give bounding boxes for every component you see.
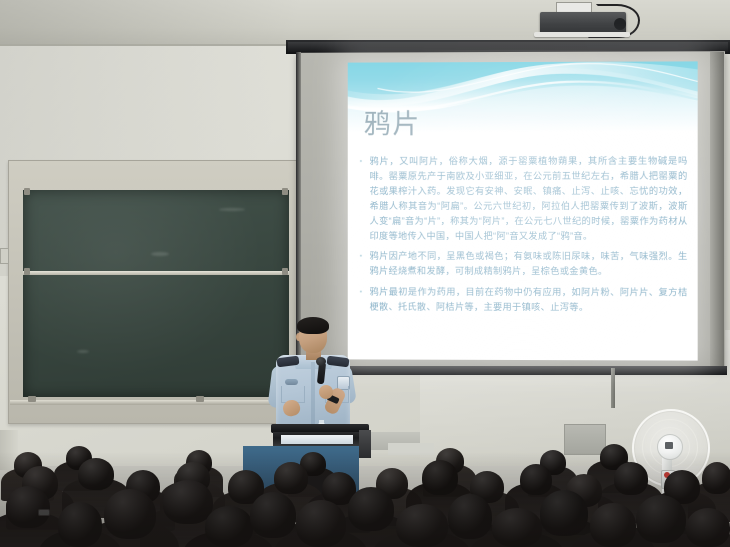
audience-head xyxy=(702,462,730,494)
slide-title: 鸦片 xyxy=(364,110,422,138)
speaker-chest-patch xyxy=(285,379,298,385)
slide-bullet-item: ▪ 鸦片最初是作为药用，目前在药物中仍有应用，如阿片粉、阿片片、复方桔梗散、托氏… xyxy=(360,285,688,315)
bullet-marker-icon: ▪ xyxy=(360,158,370,243)
audience-head xyxy=(274,462,308,494)
powerpoint-slide: 鸦片 ▪ 鸦片，又叫阿片，俗称大烟，源于罂粟植物蒴果，其所含主要生物碱是吗啡。罂… xyxy=(348,61,698,360)
slide-bullet-text: 鸦片最初是作为药用，目前在药物中仍有应用，如阿片粉、阿片片、复方桔梗散、托氏散、… xyxy=(370,285,688,315)
audience-head xyxy=(686,508,730,547)
audience-head xyxy=(250,492,296,538)
wall-switch-plate[interactable] xyxy=(0,248,9,264)
audience-head xyxy=(163,480,213,524)
board-clip xyxy=(282,268,288,275)
blackboard-divider-rail xyxy=(23,271,289,275)
board-clip xyxy=(24,268,30,275)
blackboard-surface xyxy=(23,190,289,397)
projected-slide-image: 鸦片 ▪ 鸦片，又叫阿片，俗称大烟，源于罂粟植物蒴果，其所含主要生物碱是吗啡。罂… xyxy=(348,61,698,360)
audience-head xyxy=(348,487,394,531)
chalk-tray-clip xyxy=(28,396,36,402)
wall-mounted-box xyxy=(564,424,606,455)
audience-head xyxy=(448,494,492,539)
glasses-icon xyxy=(38,509,50,516)
screen-support-arm xyxy=(611,368,615,408)
bullet-marker-icon: ▪ xyxy=(360,289,370,315)
microphone-head xyxy=(316,357,326,366)
slide-bullet-item: ▪ 鸦片，又叫阿片，俗称大烟，源于罂粟植物蒴果，其所含主要生物碱是吗啡。罂粟原先… xyxy=(360,154,688,244)
chalk-tray-clip xyxy=(196,396,204,402)
audience-head xyxy=(296,500,346,547)
slide-body: ▪ 鸦片，又叫阿片，俗称大烟，源于罂粟植物蒴果，其所含主要生物碱是吗啡。罂粟原先… xyxy=(360,154,688,322)
audience-head xyxy=(614,462,648,495)
audience-head xyxy=(78,458,114,490)
audience-head xyxy=(590,503,636,547)
classroom-photo-scene: 鸦片 ▪ 鸦片，又叫阿片，俗称大烟，源于罂粟植物蒴果，其所含主要生物碱是吗啡。罂… xyxy=(0,0,730,547)
speaker-shirt-placket xyxy=(311,362,315,428)
audience-head xyxy=(396,504,448,547)
screen-right-edge xyxy=(710,52,724,368)
audience-head xyxy=(520,464,552,495)
audience-head xyxy=(104,489,156,539)
audience-head xyxy=(6,486,50,528)
slide-bullet-text: 鸦片因产地不同，呈黑色或褐色；有氨味或陈旧尿味，味苦，气味强烈。生鸦片经烧煮和发… xyxy=(370,249,688,279)
audience-head xyxy=(636,495,686,543)
chalk-smudge xyxy=(77,350,89,353)
audience-head xyxy=(540,490,588,536)
bullet-marker-icon: ▪ xyxy=(360,253,370,279)
speaker-hair xyxy=(297,317,329,334)
blackboard xyxy=(8,160,302,424)
chalk-smudge xyxy=(151,252,169,256)
audience-head xyxy=(492,508,542,547)
audience-head xyxy=(58,502,102,547)
audience-head xyxy=(422,460,458,495)
audience-head xyxy=(205,506,253,547)
chalk-tray xyxy=(10,400,296,405)
board-clip xyxy=(282,188,288,195)
projector-lens xyxy=(614,18,626,30)
lectern-side-panel xyxy=(359,430,371,458)
lecture-notes[interactable] xyxy=(281,435,353,444)
slide-bullet-item: ▪ 鸦片因产地不同，呈黑色或褐色；有氨味或陈旧尿味，味苦，气味强烈。生鸦片经烧煮… xyxy=(360,249,688,279)
screen-weight-bar xyxy=(293,366,727,375)
chalk-smudge xyxy=(219,208,245,211)
fan-logo xyxy=(665,442,673,449)
slide-bullet-text: 鸦片，又叫阿片，俗称大烟，源于罂粟植物蒴果，其所含主要生物碱是吗啡。罂粟原先产于… xyxy=(370,154,688,244)
projector-base-plate xyxy=(534,32,630,37)
board-clip xyxy=(24,188,30,195)
speaker-right-hand xyxy=(319,385,333,399)
rear-equipment-panel-face xyxy=(388,443,434,455)
